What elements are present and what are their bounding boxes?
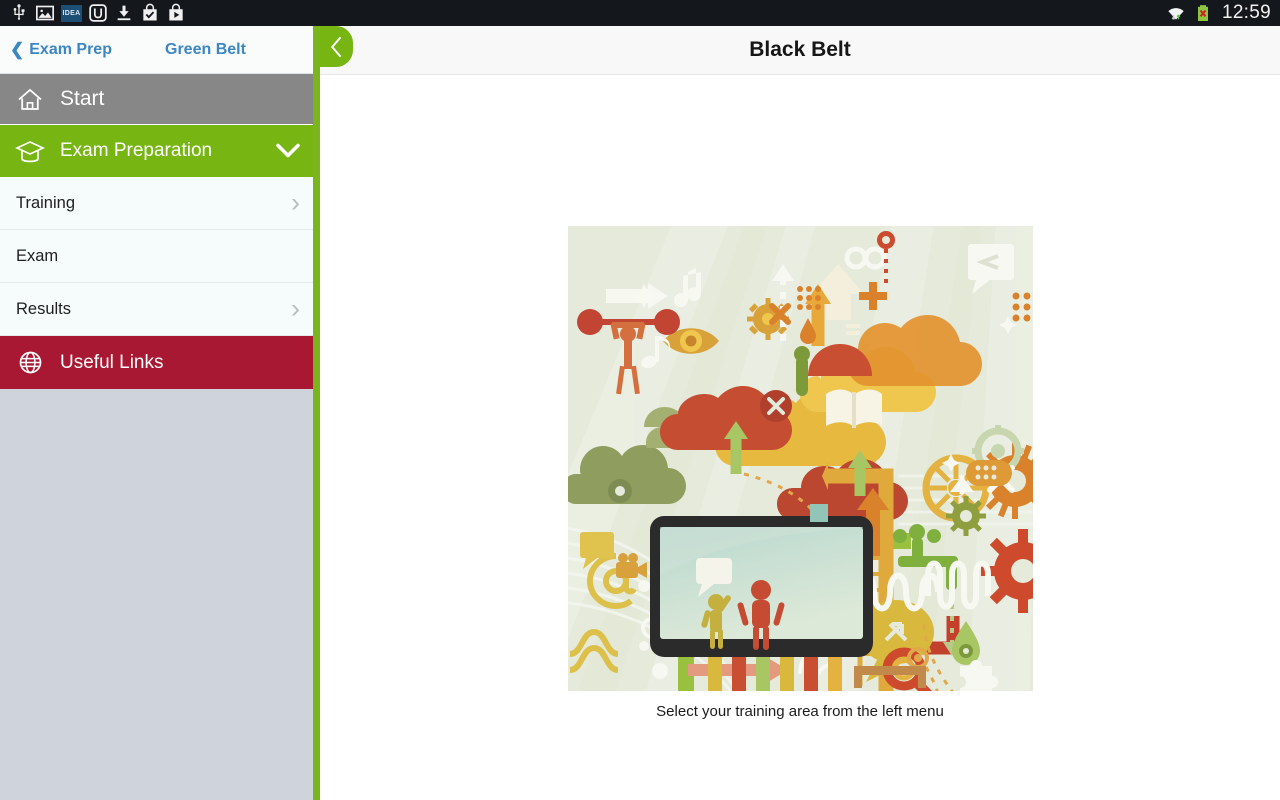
download-icon [114, 3, 134, 23]
status-bar-left-icons: IDEA [0, 3, 186, 23]
technology-collage-illustration [568, 226, 1033, 691]
idea-badge-label: IDEA [63, 10, 81, 17]
u-app-icon [88, 3, 108, 23]
globe-icon [0, 349, 60, 376]
sidebar-item-exam-preparation-label: Exam Preparation [60, 140, 212, 162]
sidebar-item-exam[interactable]: Exam [0, 230, 313, 283]
sidebar-item-training[interactable]: Training › [0, 177, 313, 230]
sidebar-item-start-label: Start [60, 87, 104, 111]
battery-error-icon [1193, 3, 1213, 23]
usb-icon [9, 3, 29, 23]
chevron-left-icon [329, 35, 344, 59]
sidebar-item-useful-links[interactable]: Useful Links [0, 336, 313, 389]
image-icon [35, 3, 55, 23]
back-button[interactable] [320, 26, 353, 67]
sidebar-item-exam-label: Exam [0, 247, 58, 266]
wifi-transfer-icon [1166, 3, 1186, 23]
home-icon [0, 86, 60, 113]
check-bag-icon [140, 3, 160, 23]
sidebar-item-start[interactable]: Start [0, 74, 313, 125]
content-top-bar: Black Belt [320, 26, 1280, 75]
content-area: Black Belt [320, 26, 1280, 800]
illustration-caption: Select your training area from the left … [656, 703, 944, 720]
chevron-right-icon: › [291, 190, 300, 217]
back-chevron-icon: ❮ [10, 41, 24, 58]
sidebar-item-training-label: Training [0, 194, 75, 213]
chevron-right-icon: › [291, 296, 300, 323]
status-bar-clock: 12:59 [1220, 2, 1271, 24]
page-title: Black Belt [749, 38, 851, 62]
left-panel-header: ❮ Exam Prep Green Belt [0, 26, 313, 74]
idea-badge-icon: IDEA [61, 5, 82, 22]
sidebar-item-results-label: Results [0, 300, 71, 319]
chevron-down-icon[interactable] [275, 143, 301, 160]
play-bag-icon [166, 3, 186, 23]
sidebar-item-results[interactable]: Results › [0, 283, 313, 336]
sidebar-item-exam-preparation[interactable]: Exam Preparation [0, 125, 313, 177]
left-navigation-panel: ❮ Exam Prep Green Belt Start [0, 26, 313, 800]
navigation-menu: Start Exam Preparation [0, 74, 313, 389]
graduation-cap-icon [0, 138, 60, 164]
app-root: IDEA [0, 0, 1280, 800]
status-bar-right-icons: 12:59 [1166, 2, 1280, 24]
green-accent-rail [313, 26, 320, 800]
android-status-bar: IDEA [0, 0, 1280, 26]
exam-prep-back-label: Exam Prep [29, 41, 112, 59]
green-belt-title: Green Belt [165, 41, 246, 59]
content-stage: Select your training area from the left … [320, 75, 1280, 800]
exam-prep-back-button[interactable]: ❮ Exam Prep [0, 41, 112, 59]
sidebar-item-useful-links-label: Useful Links [60, 352, 164, 374]
